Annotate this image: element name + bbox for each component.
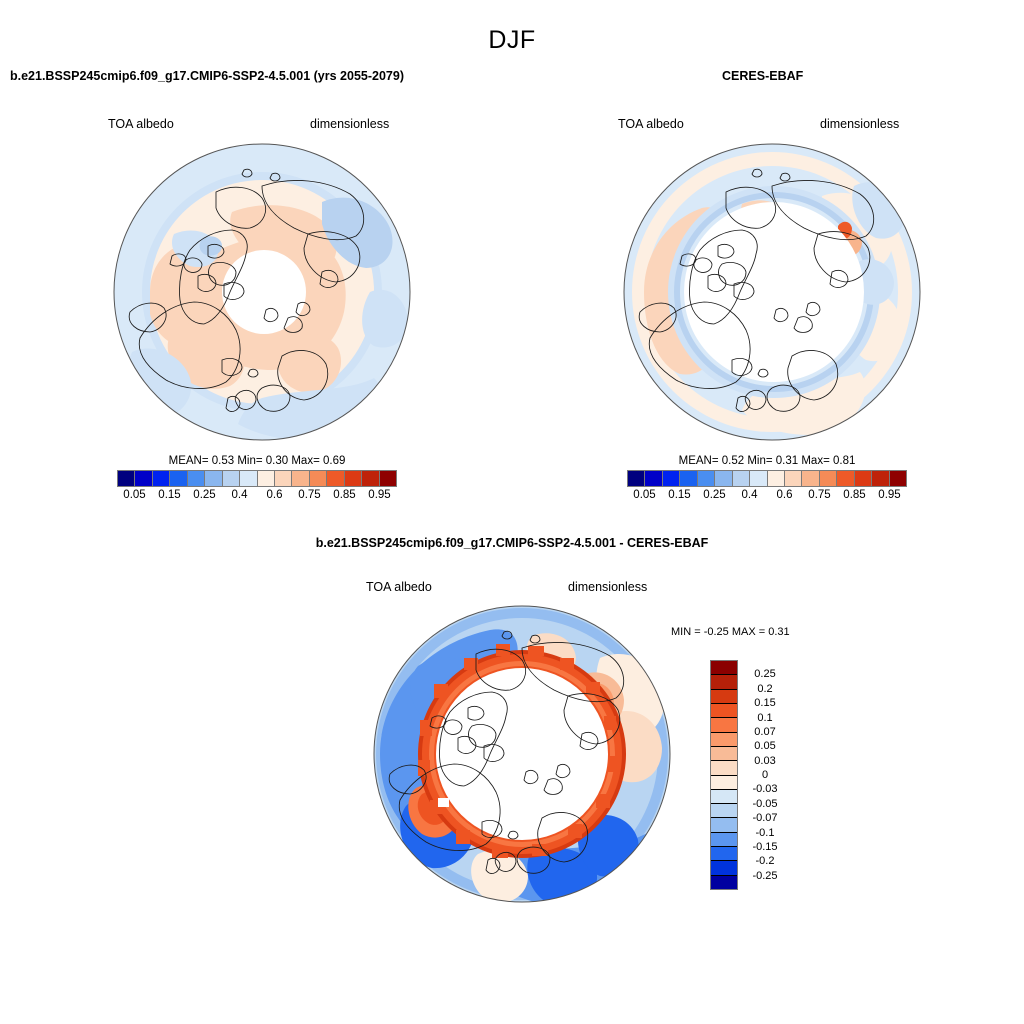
colorbar-cell	[345, 471, 362, 486]
colorbar-tick-label: 0.6	[267, 489, 283, 501]
colorbar-cell	[362, 471, 379, 486]
colorbar-tick-label: 0.95	[878, 489, 900, 501]
model-map-svg	[112, 142, 412, 442]
colorbar-tick-label: 0	[742, 769, 788, 781]
diff-colorbar-ticks: 0.250.20.150.10.070.050.030-0.03-0.05-0.…	[742, 660, 788, 890]
colorbar-cell	[837, 471, 854, 486]
colorbar-cell	[170, 471, 187, 486]
colorbar-tick-label: -0.05	[742, 798, 788, 810]
colorbar-cell	[711, 661, 737, 675]
colorbar-tick-label: -0.15	[742, 841, 788, 853]
colorbar-tick-label: 0.2	[742, 683, 788, 695]
colorbar-cell	[188, 471, 205, 486]
colorbar-tick-label: 0.07	[742, 726, 788, 738]
colorbar-cell	[711, 833, 737, 847]
colorbar-cell	[711, 804, 737, 818]
obs-units-label: dimensionless	[820, 117, 899, 131]
colorbar-tick-label: 0.15	[668, 489, 690, 501]
colorbar-tick-label: 0.75	[808, 489, 830, 501]
colorbar-tick-label: 0.1	[742, 712, 788, 724]
colorbar-cell	[223, 471, 240, 486]
figure-season-title: DJF	[0, 26, 1024, 55]
obs-panel-title: CERES-EBAF	[722, 69, 803, 83]
colorbar-cell	[711, 790, 737, 804]
colorbar-tick-label: -0.25	[742, 870, 788, 882]
colorbar-tick-label: 0.75	[298, 489, 320, 501]
colorbar-cell	[240, 471, 257, 486]
obs-colorbar-stats: MEAN= 0.52 Min= 0.31 Max= 0.81	[627, 455, 907, 467]
colorbar-tick-label: 0.85	[333, 489, 355, 501]
colorbar-cell	[258, 471, 275, 486]
diff-map-svg	[372, 604, 672, 904]
colorbar-cell	[768, 471, 785, 486]
model-colorbar[interactable]: 0.050.150.250.40.60.750.850.95	[117, 470, 397, 505]
colorbar-cell	[711, 747, 737, 761]
colorbar-cell	[711, 733, 737, 747]
colorbar-cell	[698, 471, 715, 486]
colorbar-cell	[327, 471, 344, 486]
colorbar-cell	[680, 471, 697, 486]
model-variable-label: TOA albedo	[108, 117, 174, 131]
colorbar-cell	[711, 818, 737, 832]
obs-colorbar[interactable]: 0.050.150.250.40.60.750.850.95	[627, 470, 907, 505]
colorbar-cell	[205, 471, 222, 486]
colorbar-tick-label: 0.6	[777, 489, 793, 501]
colorbar-tick-label: -0.03	[742, 783, 788, 795]
diff-polar-map	[372, 604, 672, 904]
colorbar-cell	[135, 471, 152, 486]
obs-polar-map	[622, 142, 922, 442]
colorbar-cell	[380, 471, 396, 486]
obs-colorbar-swatches[interactable]	[627, 470, 907, 487]
colorbar-cell	[153, 471, 170, 486]
model-units-label: dimensionless	[310, 117, 389, 131]
colorbar-tick-label: 0.03	[742, 755, 788, 767]
diff-minmax-stats: MIN = -0.25 MAX = 0.31	[671, 626, 790, 638]
colorbar-cell	[820, 471, 837, 486]
colorbar-cell	[711, 776, 737, 790]
colorbar-cell	[733, 471, 750, 486]
colorbar-tick-label: 0.85	[843, 489, 865, 501]
colorbar-tick-label: 0.95	[368, 489, 390, 501]
obs-colorbar-ticks: 0.050.150.250.40.60.750.850.95	[627, 487, 907, 505]
colorbar-tick-label: 0.4	[232, 489, 248, 501]
colorbar-tick-label: 0.05	[742, 740, 788, 752]
colorbar-cell	[711, 704, 737, 718]
colorbar-cell	[663, 471, 680, 486]
colorbar-cell	[711, 847, 737, 861]
colorbar-cell	[711, 876, 737, 889]
colorbar-tick-label: 0.15	[742, 697, 788, 709]
colorbar-cell	[275, 471, 292, 486]
colorbar-tick-label: -0.1	[742, 827, 788, 839]
obs-variable-label: TOA albedo	[618, 117, 684, 131]
model-colorbar-stats: MEAN= 0.53 Min= 0.30 Max= 0.69	[117, 455, 397, 467]
colorbar-cell	[711, 675, 737, 689]
colorbar-tick-label: 0.05	[123, 489, 145, 501]
colorbar-cell	[802, 471, 819, 486]
colorbar-cell	[711, 690, 737, 704]
colorbar-cell	[785, 471, 802, 486]
diff-variable-label: TOA albedo	[366, 580, 432, 594]
colorbar-cell	[711, 761, 737, 775]
colorbar-cell	[750, 471, 767, 486]
colorbar-cell	[715, 471, 732, 486]
colorbar-cell	[628, 471, 645, 486]
colorbar-tick-label: 0.25	[742, 668, 788, 680]
model-colorbar-ticks: 0.050.150.250.40.60.750.850.95	[117, 487, 397, 505]
colorbar-cell	[645, 471, 662, 486]
obs-map-svg	[622, 142, 922, 442]
colorbar-cell	[711, 718, 737, 732]
colorbar-cell	[890, 471, 906, 486]
colorbar-cell	[118, 471, 135, 486]
model-polar-map	[112, 142, 412, 442]
model-colorbar-swatches[interactable]	[117, 470, 397, 487]
colorbar-cell	[872, 471, 889, 486]
colorbar-cell	[711, 861, 737, 875]
colorbar-tick-label: 0.25	[193, 489, 215, 501]
colorbar-tick-label: 0.05	[633, 489, 655, 501]
colorbar-tick-label: -0.07	[742, 812, 788, 824]
diff-panel-title: b.e21.BSSP245cmip6.f09_g17.CMIP6-SSP2-4.…	[0, 536, 1024, 550]
colorbar-tick-label: -0.2	[742, 855, 788, 867]
colorbar-tick-label: 0.25	[703, 489, 725, 501]
diff-colorbar-swatches[interactable]	[710, 660, 738, 890]
diff-units-label: dimensionless	[568, 580, 647, 594]
colorbar-cell	[310, 471, 327, 486]
colorbar-tick-label: 0.15	[158, 489, 180, 501]
colorbar-cell	[855, 471, 872, 486]
model-panel-title: b.e21.BSSP245cmip6.f09_g17.CMIP6-SSP2-4.…	[10, 69, 404, 83]
colorbar-cell	[292, 471, 309, 486]
colorbar-tick-label: 0.4	[742, 489, 758, 501]
